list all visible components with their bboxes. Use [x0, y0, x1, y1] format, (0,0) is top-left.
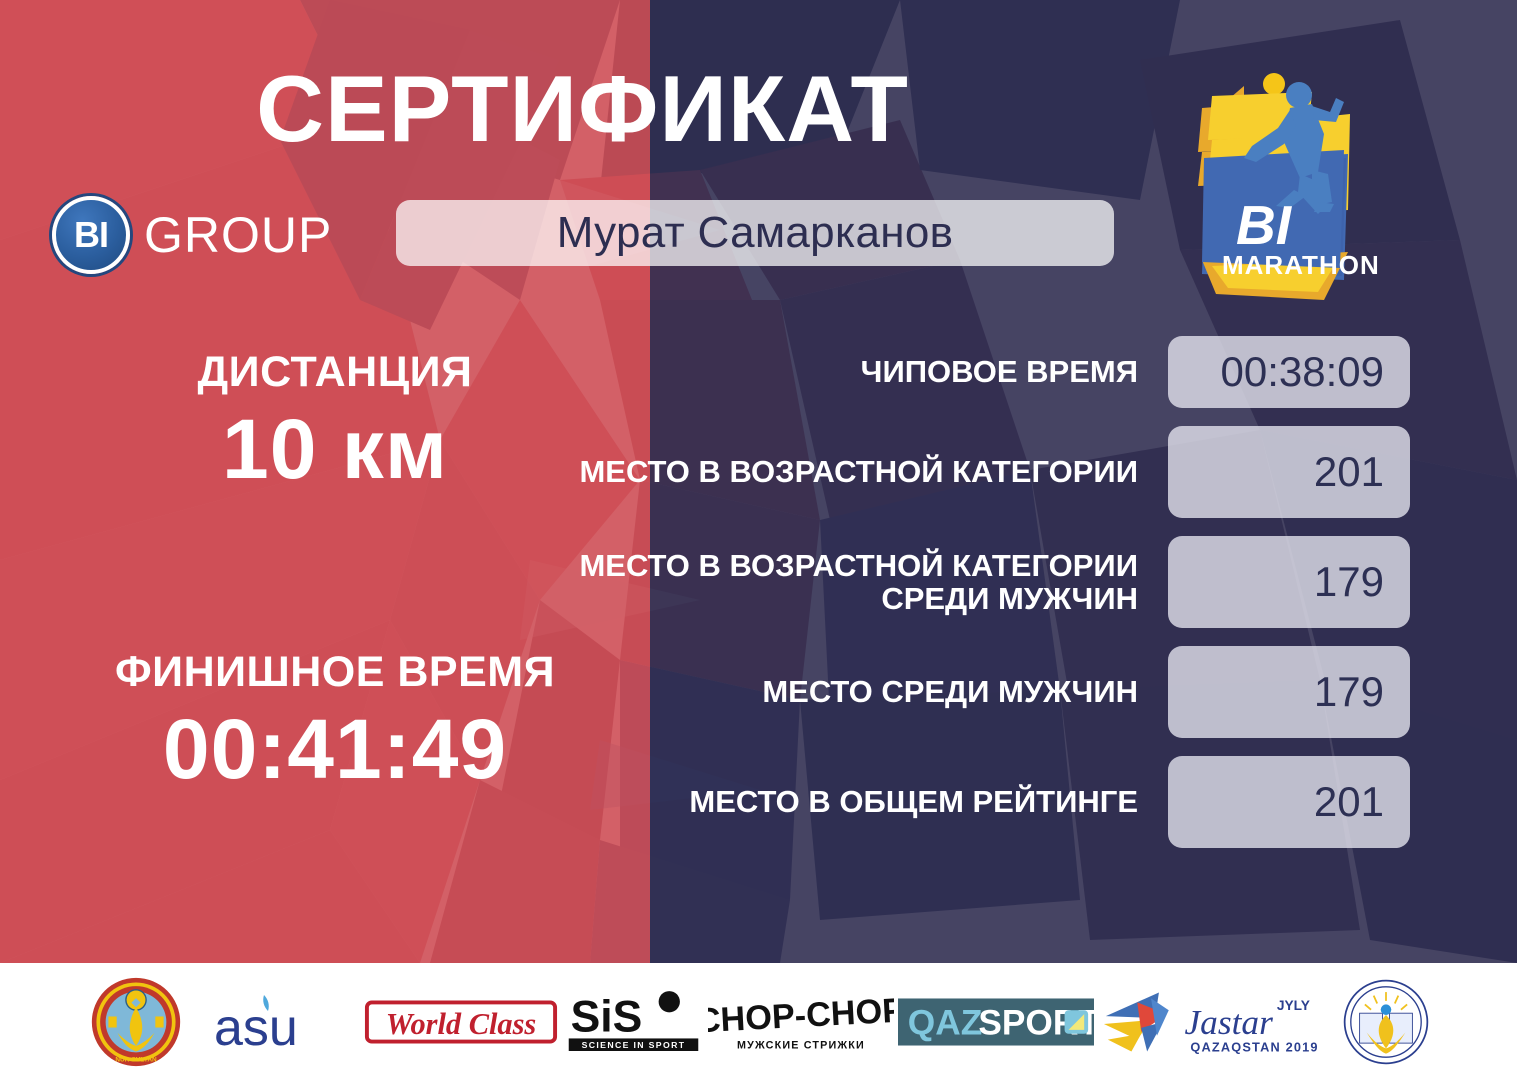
sponsor-chop-chop-logo: CHOP-CHOP МУЖСКИЕ СТРИЖКИ [706, 972, 896, 1072]
sponsor-sis-logo: SiS SCIENCE IN SPORT [561, 972, 706, 1072]
bi-group-mark-icon: BI [52, 196, 130, 274]
sis-tagline: SCIENCE IN SPORT [582, 1040, 686, 1050]
table-row: МЕСТО В ВОЗРАСТНОЙ КАТЕГОРИИ СРЕДИ МУЖЧИ… [520, 536, 1410, 628]
jastar-sup: JYLY [1277, 998, 1310, 1013]
chip-time-value: 00:38:09 [1168, 336, 1410, 408]
qazsport-label-a: QAZ [908, 1003, 982, 1042]
sponsor-asu-logo: asu [201, 972, 361, 1072]
bi-group-logo: BI GROUP [52, 196, 332, 274]
asu-label: asu [214, 999, 298, 1057]
certificate-canvas: СЕРТИФИКАТ BI GROUP Мурат Самарканов [0, 0, 1517, 1080]
marathon-subtitle-text: MARATHON [1222, 250, 1380, 280]
bi-group-wordmark: GROUP [144, 206, 332, 264]
table-row: МЕСТО СРЕДИ МУЖЧИН 179 [520, 646, 1410, 738]
sponsor-qazsport-logo: QAZ SPORT [896, 972, 1096, 1072]
table-row: ЧИПОВОЕ ВРЕМЯ 00:38:09 [520, 336, 1410, 408]
participant-name: Мурат Самарканов [557, 208, 954, 258]
chop-chop-label: CHOP-CHOP [708, 991, 894, 1040]
sponsor-world-class-logo: World Class [361, 972, 561, 1072]
chip-time-label: ЧИПОВОЕ ВРЕМЯ [520, 355, 1168, 388]
sun-icon [1263, 73, 1285, 95]
jastar-tagline: QAZAQSTAN 2019 [1190, 1039, 1318, 1054]
sis-label: SiS [571, 992, 643, 1041]
sponsor-bar: NUR-SULTAN asu World Class SiS SCIENCE I… [0, 963, 1517, 1080]
overall-place-label: МЕСТО В ОБЩЕМ РЕЙТИНГЕ [520, 785, 1168, 818]
finish-time-stat: ФИНИШНОЕ ВРЕМЯ 00:41:49 [85, 648, 585, 796]
sponsor-jastar-jyly-logo: Jastar JYLY QAZAQSTAN 2019 [1096, 972, 1326, 1072]
marathon-brand-text: BI [1236, 194, 1293, 256]
distance-label: ДИСТАНЦИЯ [85, 348, 585, 396]
men-place-value: 179 [1168, 646, 1410, 738]
page-title: СЕРТИФИКАТ [0, 62, 1165, 156]
akimat-label: NUR-SULTAN [115, 1056, 157, 1063]
distance-value: 10 км [85, 402, 585, 496]
age-category-men-place-value: 179 [1168, 536, 1410, 628]
bi-group-mark-label: BI [74, 214, 108, 256]
sponsor-ministry-of-culture-and-sport-logo [1326, 972, 1446, 1072]
world-class-label: World Class [386, 1006, 537, 1040]
participant-name-badge: Мурат Самарканов [396, 200, 1114, 266]
age-category-place-label: МЕСТО В ВОЗРАСТНОЙ КАТЕГОРИИ [520, 455, 1168, 488]
table-row: МЕСТО В ВОЗРАСТНОЙ КАТЕГОРИИ 201 [520, 426, 1410, 518]
overall-place-value: 201 [1168, 756, 1410, 848]
men-place-label: МЕСТО СРЕДИ МУЖЧИН [520, 675, 1168, 708]
results-table: ЧИПОВОЕ ВРЕМЯ 00:38:09 МЕСТО В ВОЗРАСТНО… [520, 336, 1410, 866]
age-category-men-place-label: МЕСТО В ВОЗРАСТНОЙ КАТЕГОРИИ СРЕДИ МУЖЧИ… [520, 549, 1168, 616]
distance-stat: ДИСТАНЦИЯ 10 км [85, 348, 585, 496]
chop-chop-tagline: МУЖСКИЕ СТРИЖКИ [737, 1039, 865, 1051]
jastar-label: Jastar [1184, 1002, 1273, 1042]
sponsor-akimat-nur-sultan-logo: NUR-SULTAN [71, 972, 201, 1072]
table-row: МЕСТО В ОБЩЕМ РЕЙТИНГЕ 201 [520, 756, 1410, 848]
bi-marathon-logo: BI MARATHON [1172, 62, 1400, 312]
finish-time-value: 00:41:49 [85, 702, 585, 796]
finish-time-label: ФИНИШНОЕ ВРЕМЯ [85, 648, 585, 696]
age-category-place-value: 201 [1168, 426, 1410, 518]
